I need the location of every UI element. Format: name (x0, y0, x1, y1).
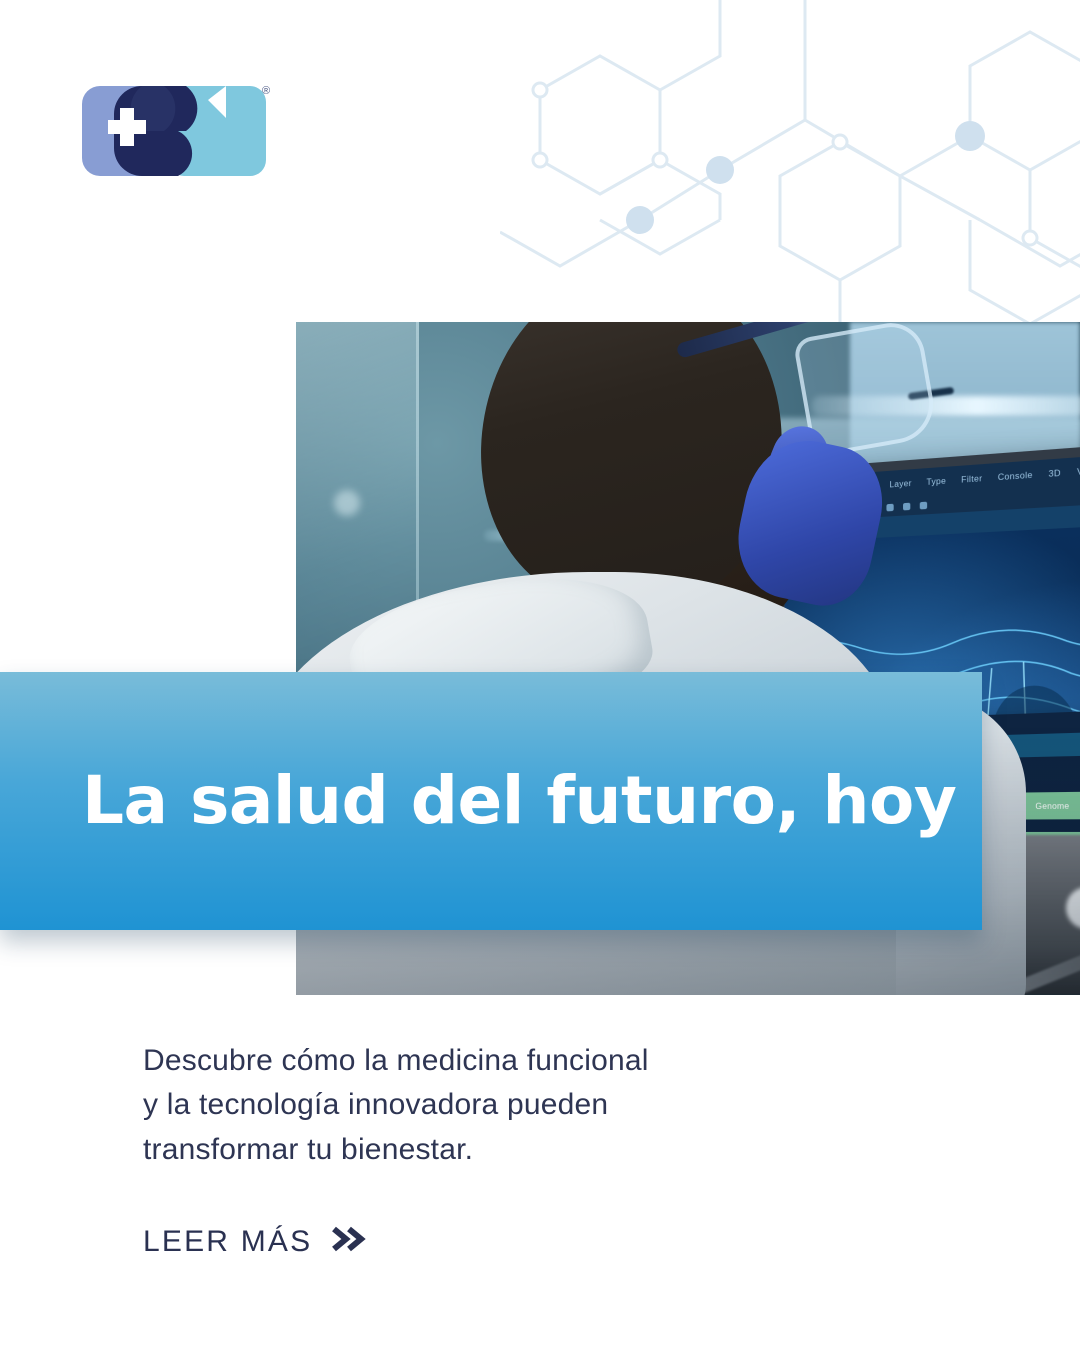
body-copy: Descubre cómo la medicina funcional y la… (143, 1039, 803, 1172)
toolbar-icon (886, 503, 893, 511)
promo-poster: ® File Edit Image Layer Type (0, 0, 1080, 1351)
trademark-symbol: ® (262, 85, 270, 97)
body-line-3: transformar tu bienestar. (143, 1128, 803, 1172)
menu-item-type: Type (926, 476, 946, 487)
body-line-1: Descubre cómo la medicina funcional (143, 1039, 803, 1083)
read-more-link[interactable]: LEER MÁS (143, 1224, 368, 1259)
brand-logo[interactable]: ® (76, 78, 276, 184)
body-line-2: y la tecnología innovadora pueden (143, 1083, 803, 1127)
headline-banner: La salud del futuro, hoy (0, 672, 982, 930)
glass-reflection (334, 490, 360, 516)
menu-item-console: Console (998, 470, 1033, 482)
menu-item-filter: Filter (961, 473, 982, 484)
read-more-label: LEER MÁS (143, 1225, 312, 1259)
menu-item-layer: Layer (889, 478, 911, 489)
toolbar-icon (903, 502, 910, 510)
page-title: La salud del futuro, hoy (0, 768, 956, 834)
toolbar-icon (920, 501, 927, 509)
double-chevron-right-icon (328, 1224, 368, 1259)
menu-item-3d: 3D (1049, 468, 1061, 479)
